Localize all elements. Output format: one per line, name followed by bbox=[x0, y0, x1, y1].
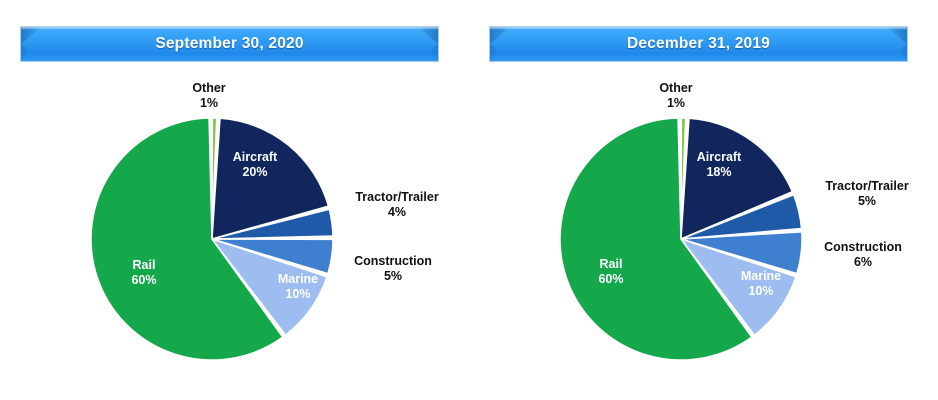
pie-label-percent: 10% bbox=[285, 287, 310, 301]
pie-label-percent: 60% bbox=[131, 273, 156, 287]
pie-slices-left bbox=[91, 118, 333, 360]
chart-panel-right: December 31, 2019 Aircraft18%Tractor/Tra… bbox=[469, 0, 938, 400]
pie-label-name: Rail bbox=[133, 258, 156, 272]
pie-label-percent: 6% bbox=[854, 255, 872, 269]
pie-label-percent: 5% bbox=[858, 194, 876, 208]
pie-label-name: Aircraft bbox=[697, 150, 742, 164]
pie-label-percent: 10% bbox=[748, 284, 773, 298]
panel-title-banner-left: September 30, 2020 bbox=[20, 26, 439, 62]
pie-label-other: Other1% bbox=[192, 81, 225, 110]
pie-label-percent: 18% bbox=[706, 165, 731, 179]
pie-label-name: Construction bbox=[824, 240, 902, 254]
pie-label-name: Marine bbox=[741, 269, 781, 283]
panel-title-right: December 31, 2019 bbox=[489, 26, 908, 62]
pie-label-percent: 4% bbox=[388, 205, 406, 219]
panel-title-left: September 30, 2020 bbox=[20, 26, 439, 62]
pie-label-rail: Rail60% bbox=[598, 257, 623, 286]
pie-label-name: Construction bbox=[354, 254, 432, 268]
pie-label-percent: 1% bbox=[667, 96, 685, 110]
pie-label-name: Rail bbox=[600, 257, 623, 271]
pie-label-percent: 20% bbox=[242, 165, 267, 179]
pie-label-name: Marine bbox=[278, 272, 318, 286]
pie-label-tractor-trailer: Tractor/Trailer5% bbox=[825, 179, 909, 208]
pie-label-tractor-trailer: Tractor/Trailer4% bbox=[355, 190, 439, 219]
pie-label-percent: 60% bbox=[598, 272, 623, 286]
pie-label-other: Other1% bbox=[659, 81, 692, 110]
pie-label-name: Aircraft bbox=[233, 150, 278, 164]
pie-label-percent: 1% bbox=[200, 96, 218, 110]
pie-label-construction: Construction6% bbox=[824, 240, 902, 269]
pie-label-percent: 5% bbox=[384, 269, 402, 283]
chart-panel-left: September 30, 2020 Aircraft20%Tractor/Tr… bbox=[0, 0, 469, 400]
pie-slices-right bbox=[560, 118, 802, 360]
pie-label-name: Tractor/Trailer bbox=[825, 179, 909, 193]
pie-label-rail: Rail60% bbox=[131, 258, 156, 287]
pie-label-name: Other bbox=[659, 81, 692, 95]
pie-label-name: Tractor/Trailer bbox=[355, 190, 439, 204]
pie-label-name: Other bbox=[192, 81, 225, 95]
panel-title-banner-right: December 31, 2019 bbox=[489, 26, 908, 62]
pie-label-construction: Construction5% bbox=[354, 254, 432, 283]
pie-chart-comparison-page: September 30, 2020 Aircraft20%Tractor/Tr… bbox=[0, 0, 938, 400]
